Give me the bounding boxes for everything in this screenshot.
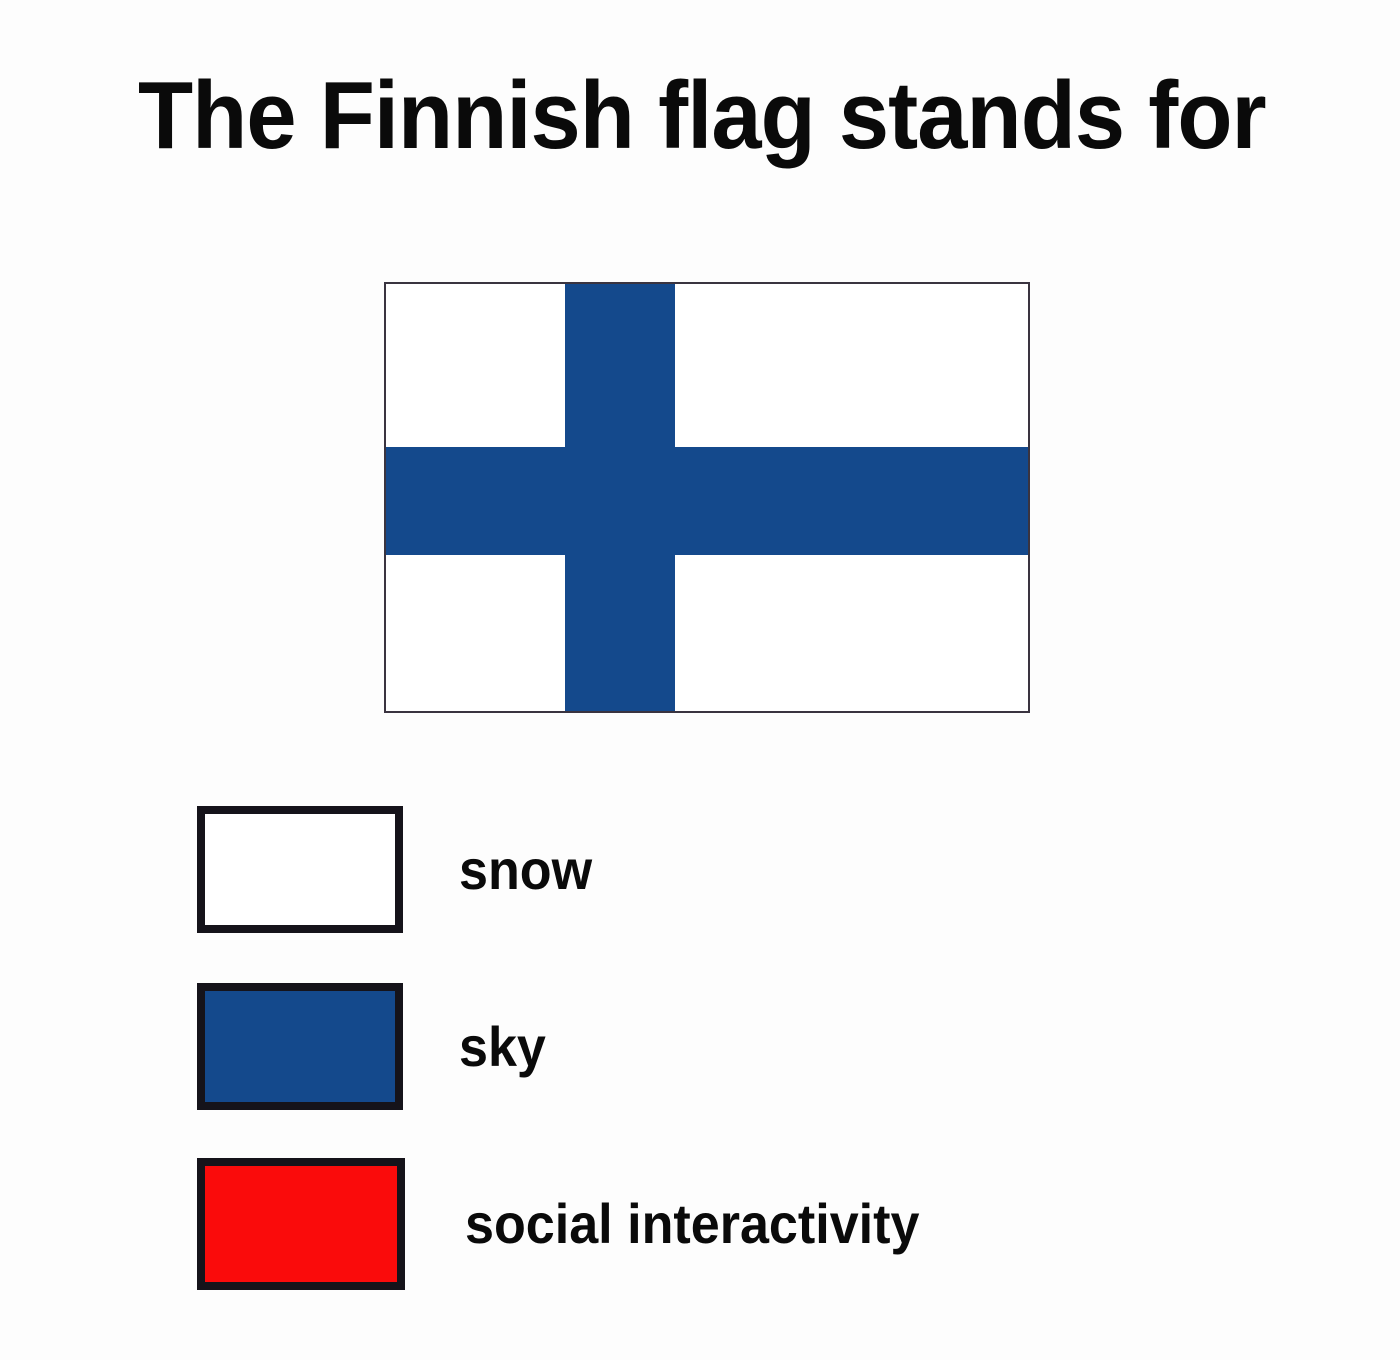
swatch-white — [197, 806, 403, 933]
finnish-flag-graphic — [384, 282, 1030, 713]
swatch-red — [197, 1158, 405, 1290]
meme-image-root: { "title": "The Finnish flag stands for"… — [0, 0, 1400, 1360]
swatch-blue — [197, 983, 403, 1110]
page-title: The Finnish flag stands for — [138, 60, 1228, 172]
legend-label-social-interactivity: social interactivity — [465, 1158, 919, 1290]
legend-item-sky: sky — [197, 983, 1347, 1110]
legend-label-sky: sky — [459, 983, 546, 1110]
legend-item-social-interactivity: social interactivity — [197, 1158, 1347, 1285]
flag-cross-horizontal-band — [386, 447, 1028, 555]
flag-cross-vertical-band — [565, 284, 675, 711]
legend-label-snow: snow — [459, 806, 592, 933]
legend-item-snow: snow — [197, 806, 1347, 933]
